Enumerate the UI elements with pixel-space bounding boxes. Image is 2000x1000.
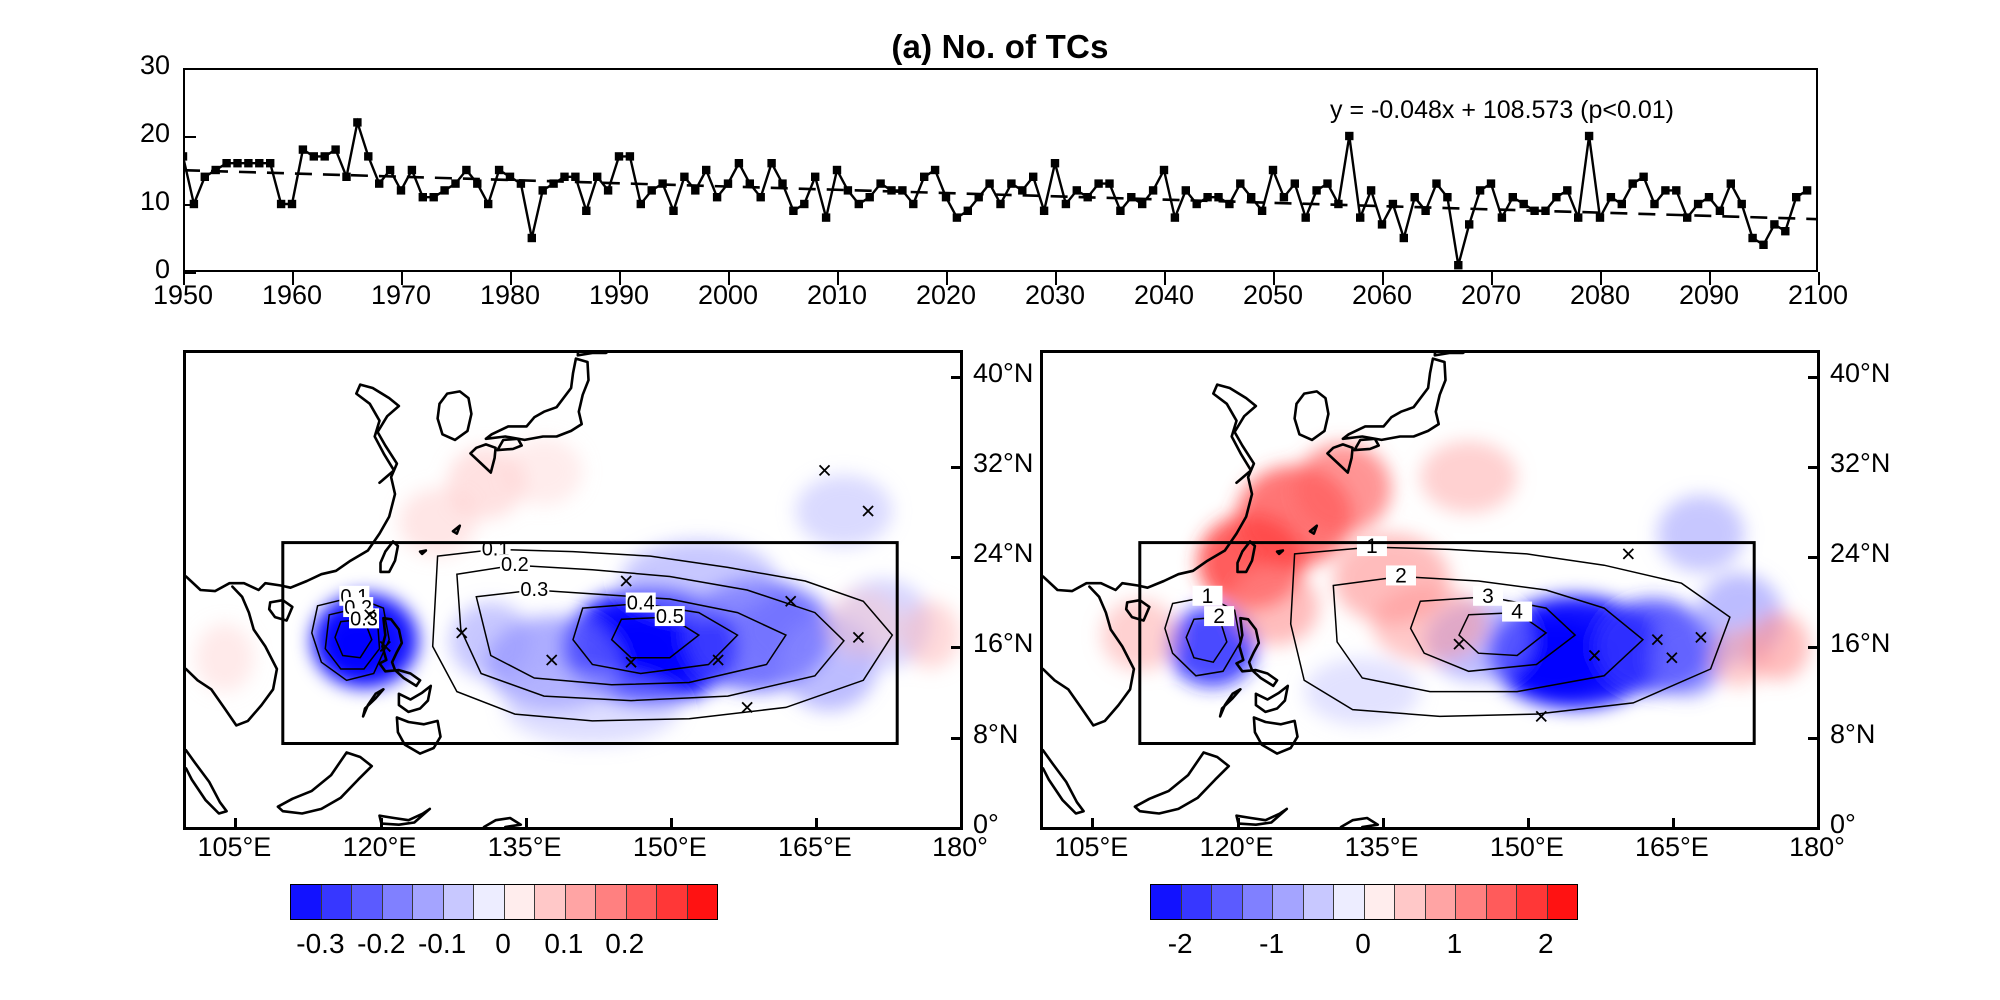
- lon-tick: [670, 818, 673, 830]
- lon-tick-label: 150°E: [605, 832, 735, 863]
- svg-text:0.3: 0.3: [520, 579, 548, 601]
- svg-text:1: 1: [1366, 535, 1378, 558]
- lon-tick-label: 150°E: [1462, 832, 1592, 863]
- colorbar-cell: [535, 885, 566, 919]
- y-tick: [183, 68, 196, 70]
- lon-tick: [1237, 818, 1240, 830]
- lat-tick: [951, 646, 963, 649]
- y-tick: [183, 204, 196, 206]
- figure-root: (a) No. of TCs y = -0.048x + 108.573 (p<…: [0, 0, 2000, 1000]
- x-tick-label: 2040: [1109, 280, 1219, 311]
- map-panel-b: 0.10.20.30.40.50.10.20.3: [183, 350, 963, 830]
- lon-tick-label: 120°E: [315, 832, 445, 863]
- colorbar-cell: [413, 885, 444, 919]
- x-tick-label: 1970: [346, 280, 456, 311]
- lat-tick-label: 40°N: [973, 358, 1033, 389]
- x-tick-label: 1960: [237, 280, 347, 311]
- colorbar-cell: [1548, 885, 1578, 919]
- lon-tick-label: 120°E: [1172, 832, 1302, 863]
- x-tick-label: 1950: [128, 280, 238, 311]
- y-tick-label: 20: [90, 118, 170, 149]
- colorbar-cell: [1487, 885, 1518, 919]
- y-tick-label: 10: [90, 186, 170, 217]
- lon-tick: [815, 818, 818, 830]
- timeseries-plot: [183, 68, 1818, 272]
- lon-tick: [960, 818, 963, 830]
- x-tick-label: 2000: [673, 280, 783, 311]
- lat-tick: [1808, 556, 1820, 559]
- colorbar-cell: [627, 885, 658, 919]
- svg-text:0.2: 0.2: [501, 554, 529, 576]
- colorbar-cell: [383, 885, 414, 919]
- colorbar-tick-label: 2: [1491, 928, 1601, 960]
- lon-tick: [1382, 818, 1385, 830]
- colorbar-cell: [596, 885, 627, 919]
- lon-tick-label: 165°E: [750, 832, 880, 863]
- colorbar-cell: [1212, 885, 1243, 919]
- lon-tick-label: 105°E: [169, 832, 299, 863]
- lon-tick: [234, 818, 237, 830]
- lon-tick: [1527, 818, 1530, 830]
- svg-text:2: 2: [1395, 565, 1407, 588]
- panel-a-title: (a) No. of TCs: [0, 28, 2000, 66]
- lat-tick: [1808, 376, 1820, 379]
- colorbar-cell: [444, 885, 475, 919]
- colorbar-cell: [688, 885, 718, 919]
- colorbar-cell: [352, 885, 383, 919]
- lat-tick: [951, 376, 963, 379]
- lat-tick: [1808, 466, 1820, 469]
- lat-tick: [951, 556, 963, 559]
- colorbar-cell: [1456, 885, 1487, 919]
- x-tick-label: 2050: [1218, 280, 1328, 311]
- svg-text:4: 4: [1511, 601, 1523, 624]
- svg-text:1: 1: [1202, 585, 1214, 608]
- colorbar-cell: [1334, 885, 1365, 919]
- colorbar-cell: [1517, 885, 1548, 919]
- colorbar-cell: [566, 885, 597, 919]
- lon-tick: [380, 818, 383, 830]
- colorbar-cell: [1273, 885, 1304, 919]
- lat-tick-label: 16°N: [973, 628, 1033, 659]
- lon-tick-label: 180°: [895, 832, 1025, 863]
- colorbar-cell: [1182, 885, 1213, 919]
- x-tick-label: 2020: [891, 280, 1001, 311]
- lat-tick-label: 40°N: [1830, 358, 1890, 389]
- svg-text:2: 2: [1213, 605, 1225, 628]
- lat-tick-label: 32°N: [1830, 448, 1890, 479]
- lon-tick: [1091, 818, 1094, 830]
- colorbar-cell: [1395, 885, 1426, 919]
- lon-tick: [1817, 818, 1820, 830]
- lat-tick: [1808, 646, 1820, 649]
- lat-tick: [951, 737, 963, 740]
- x-tick-label: 2010: [782, 280, 892, 311]
- lon-tick-label: 135°E: [460, 832, 590, 863]
- colorbar-cell: [1304, 885, 1335, 919]
- x-tick-label: 2080: [1545, 280, 1655, 311]
- y-tick-label: 30: [90, 50, 170, 81]
- svg-text:0.5: 0.5: [656, 606, 684, 628]
- x-tick-label: 1980: [455, 280, 565, 311]
- svg-text:0.4: 0.4: [627, 593, 655, 615]
- lat-tick-label: 8°N: [973, 719, 1018, 750]
- lon-tick-label: 165°E: [1607, 832, 1737, 863]
- colorbar-cell: [657, 885, 688, 919]
- x-tick-label: 2100: [1763, 280, 1873, 311]
- lat-tick-label: 24°N: [973, 538, 1033, 569]
- lon-tick-label: 180°: [1752, 832, 1882, 863]
- lat-tick-label: 32°N: [973, 448, 1033, 479]
- colorbar-cell: [291, 885, 322, 919]
- map-panel-c: 123412: [1040, 350, 1820, 830]
- x-tick-label: 1990: [564, 280, 674, 311]
- lon-tick: [1672, 818, 1675, 830]
- colorbar-cell: [505, 885, 536, 919]
- x-tick-label: 2030: [1000, 280, 1110, 311]
- colorbar-cell: [474, 885, 505, 919]
- colorbar-cell: [1365, 885, 1396, 919]
- y-tick: [183, 136, 196, 138]
- colorbar-cell: [1151, 885, 1182, 919]
- svg-text:3: 3: [1482, 585, 1494, 608]
- lon-tick-label: 135°E: [1317, 832, 1447, 863]
- lon-tick: [525, 818, 528, 830]
- lon-tick-label: 105°E: [1026, 832, 1156, 863]
- lat-tick-label: 8°N: [1830, 719, 1875, 750]
- colorbar-tick-label: 0.2: [570, 928, 680, 960]
- x-tick-label: 2060: [1327, 280, 1437, 311]
- lat-tick-label: 16°N: [1830, 628, 1890, 659]
- lat-tick-label: 24°N: [1830, 538, 1890, 569]
- colorbar-cell: [1426, 885, 1457, 919]
- x-tick-label: 2070: [1436, 280, 1546, 311]
- colorbar-cell: [322, 885, 353, 919]
- lat-tick: [951, 466, 963, 469]
- lat-tick: [1808, 737, 1820, 740]
- x-tick-label: 2090: [1654, 280, 1764, 311]
- colorbar-cell: [1243, 885, 1274, 919]
